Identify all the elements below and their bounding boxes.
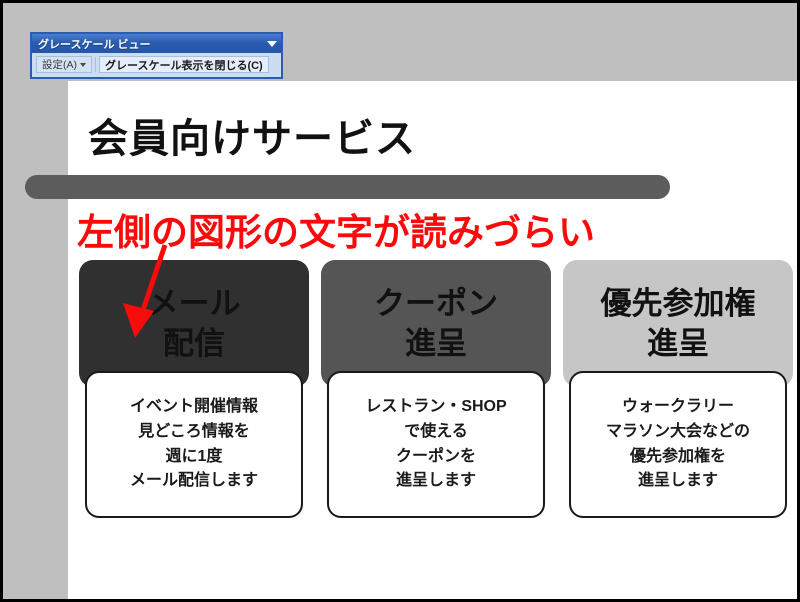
title-divider-bar (25, 175, 670, 199)
card-header: 優先参加権 進呈 (563, 260, 793, 387)
card-body: ウォークラリー マラソン大会などの 優先参加権を 進呈します (569, 371, 787, 518)
card-body: イベント開催情報 見どころ情報を 週に1度 メール配信します (85, 371, 303, 518)
card-header: クーポン 進呈 (321, 260, 551, 387)
grayscale-view-toolbar: グレースケール ビュー 設定(A) グレースケール表示を閉じる(C) (30, 32, 283, 79)
close-grayscale-view-label: グレースケール表示を閉じる(C) (105, 57, 263, 73)
service-card: クーポン 進呈 レストラン・SHOP で使える クーポンを 進呈します (321, 260, 551, 518)
card-header-label: 優先参加権 進呈 (601, 284, 756, 363)
toolbar-separator (95, 57, 96, 72)
service-card: 優先参加権 進呈 ウォークラリー マラソン大会などの 優先参加権を 進呈します (563, 260, 793, 518)
toolbar-titlebar[interactable]: グレースケール ビュー (32, 34, 281, 53)
chevron-down-icon[interactable] (80, 63, 86, 67)
slide-title: 会員向けサービス (88, 106, 416, 164)
close-grayscale-view-button[interactable]: グレースケール表示を閉じる(C) (99, 56, 269, 73)
settings-button-label: 設定(A) (42, 57, 77, 72)
toolbar-button-row: 設定(A) グレースケール表示を閉じる(C) (32, 53, 281, 77)
settings-button[interactable]: 設定(A) (36, 56, 92, 73)
chevron-down-icon[interactable] (267, 41, 277, 47)
arrow-down-left-icon (113, 241, 183, 346)
card-body-label: レストラン・SHOP で使える クーポンを 進呈します (365, 395, 506, 494)
card-body-label: イベント開催情報 見どころ情報を 週に1度 メール配信します (130, 395, 258, 494)
card-body: レストラン・SHOP で使える クーポンを 進呈します (327, 371, 545, 518)
toolbar-title: グレースケール ビュー (38, 36, 151, 52)
card-header-label: クーポン 進呈 (374, 284, 498, 363)
application-window: グレースケール ビュー 設定(A) グレースケール表示を閉じる(C) 会員向けサ… (0, 0, 800, 602)
card-body-label: ウォークラリー マラソン大会などの 優先参加権を 進呈します (606, 395, 750, 494)
